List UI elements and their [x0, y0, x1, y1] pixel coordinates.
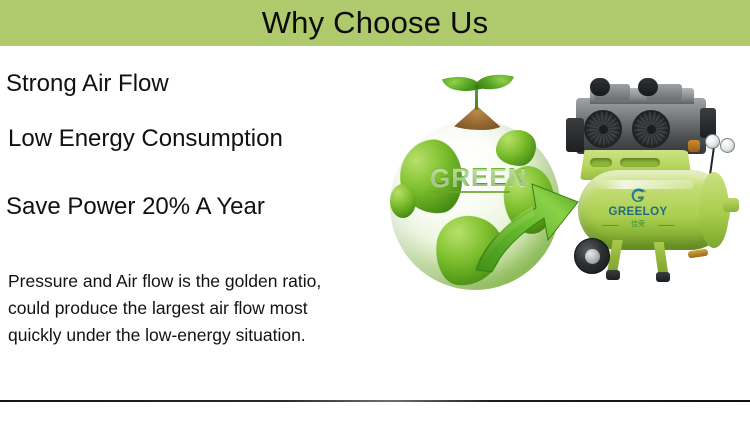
- feature-item-low-energy-consumption: Low Energy Consumption: [8, 127, 283, 151]
- description-line-2: could produce the largest air flow most: [8, 295, 400, 322]
- continent-shape-extra: [390, 184, 416, 218]
- handle-slot-1: [590, 158, 612, 167]
- green-earth-illustration: GREEN: [378, 58, 588, 286]
- feature-item-save-power: Save Power 20% A Year: [6, 195, 265, 219]
- pressure-regulator-icon: [688, 140, 700, 152]
- pressure-gauge-icon-2: [720, 138, 735, 153]
- bottom-divider: [0, 400, 750, 402]
- tank-outlet-nub: [723, 198, 739, 212]
- rubber-foot-left: [606, 270, 620, 280]
- cooling-fan-right-icon: [632, 110, 670, 148]
- greeloy-g-logo-icon: [628, 186, 648, 206]
- description-line-1: Pressure and Air flow is the golden rati…: [8, 268, 400, 295]
- brand-lockup: GREELOY 佳荣: [600, 186, 676, 228]
- air-filter-right-icon: [638, 78, 658, 96]
- brand-subtitle-label: 佳荣: [600, 221, 676, 228]
- feature-item-strong-air-flow: Strong Air Flow: [6, 72, 169, 96]
- brand-name-label: GREELOY: [600, 207, 676, 219]
- wheel-icon: [574, 238, 610, 274]
- description-line-3: quickly under the low-energy situation.: [8, 322, 400, 349]
- motor-housing-left: [566, 118, 584, 152]
- air-compressor-product-image: GREELOY 佳荣: [560, 62, 748, 298]
- header-band: Why Choose Us: [0, 0, 750, 46]
- leaf-right-icon: [474, 68, 514, 96]
- drain-valve-icon: [688, 249, 709, 259]
- air-filter-left-icon: [590, 78, 610, 96]
- pressure-gauge-icon-1: [705, 134, 720, 149]
- cooling-fan-left-icon: [584, 110, 622, 148]
- handle-slot-2: [620, 158, 660, 167]
- description-paragraph: Pressure and Air flow is the golden rati…: [8, 268, 400, 349]
- page-title: Why Choose Us: [262, 7, 489, 38]
- promo-banner: Why Choose Us Strong Air Flow Low Energy…: [0, 0, 750, 430]
- rubber-foot-right: [656, 272, 670, 282]
